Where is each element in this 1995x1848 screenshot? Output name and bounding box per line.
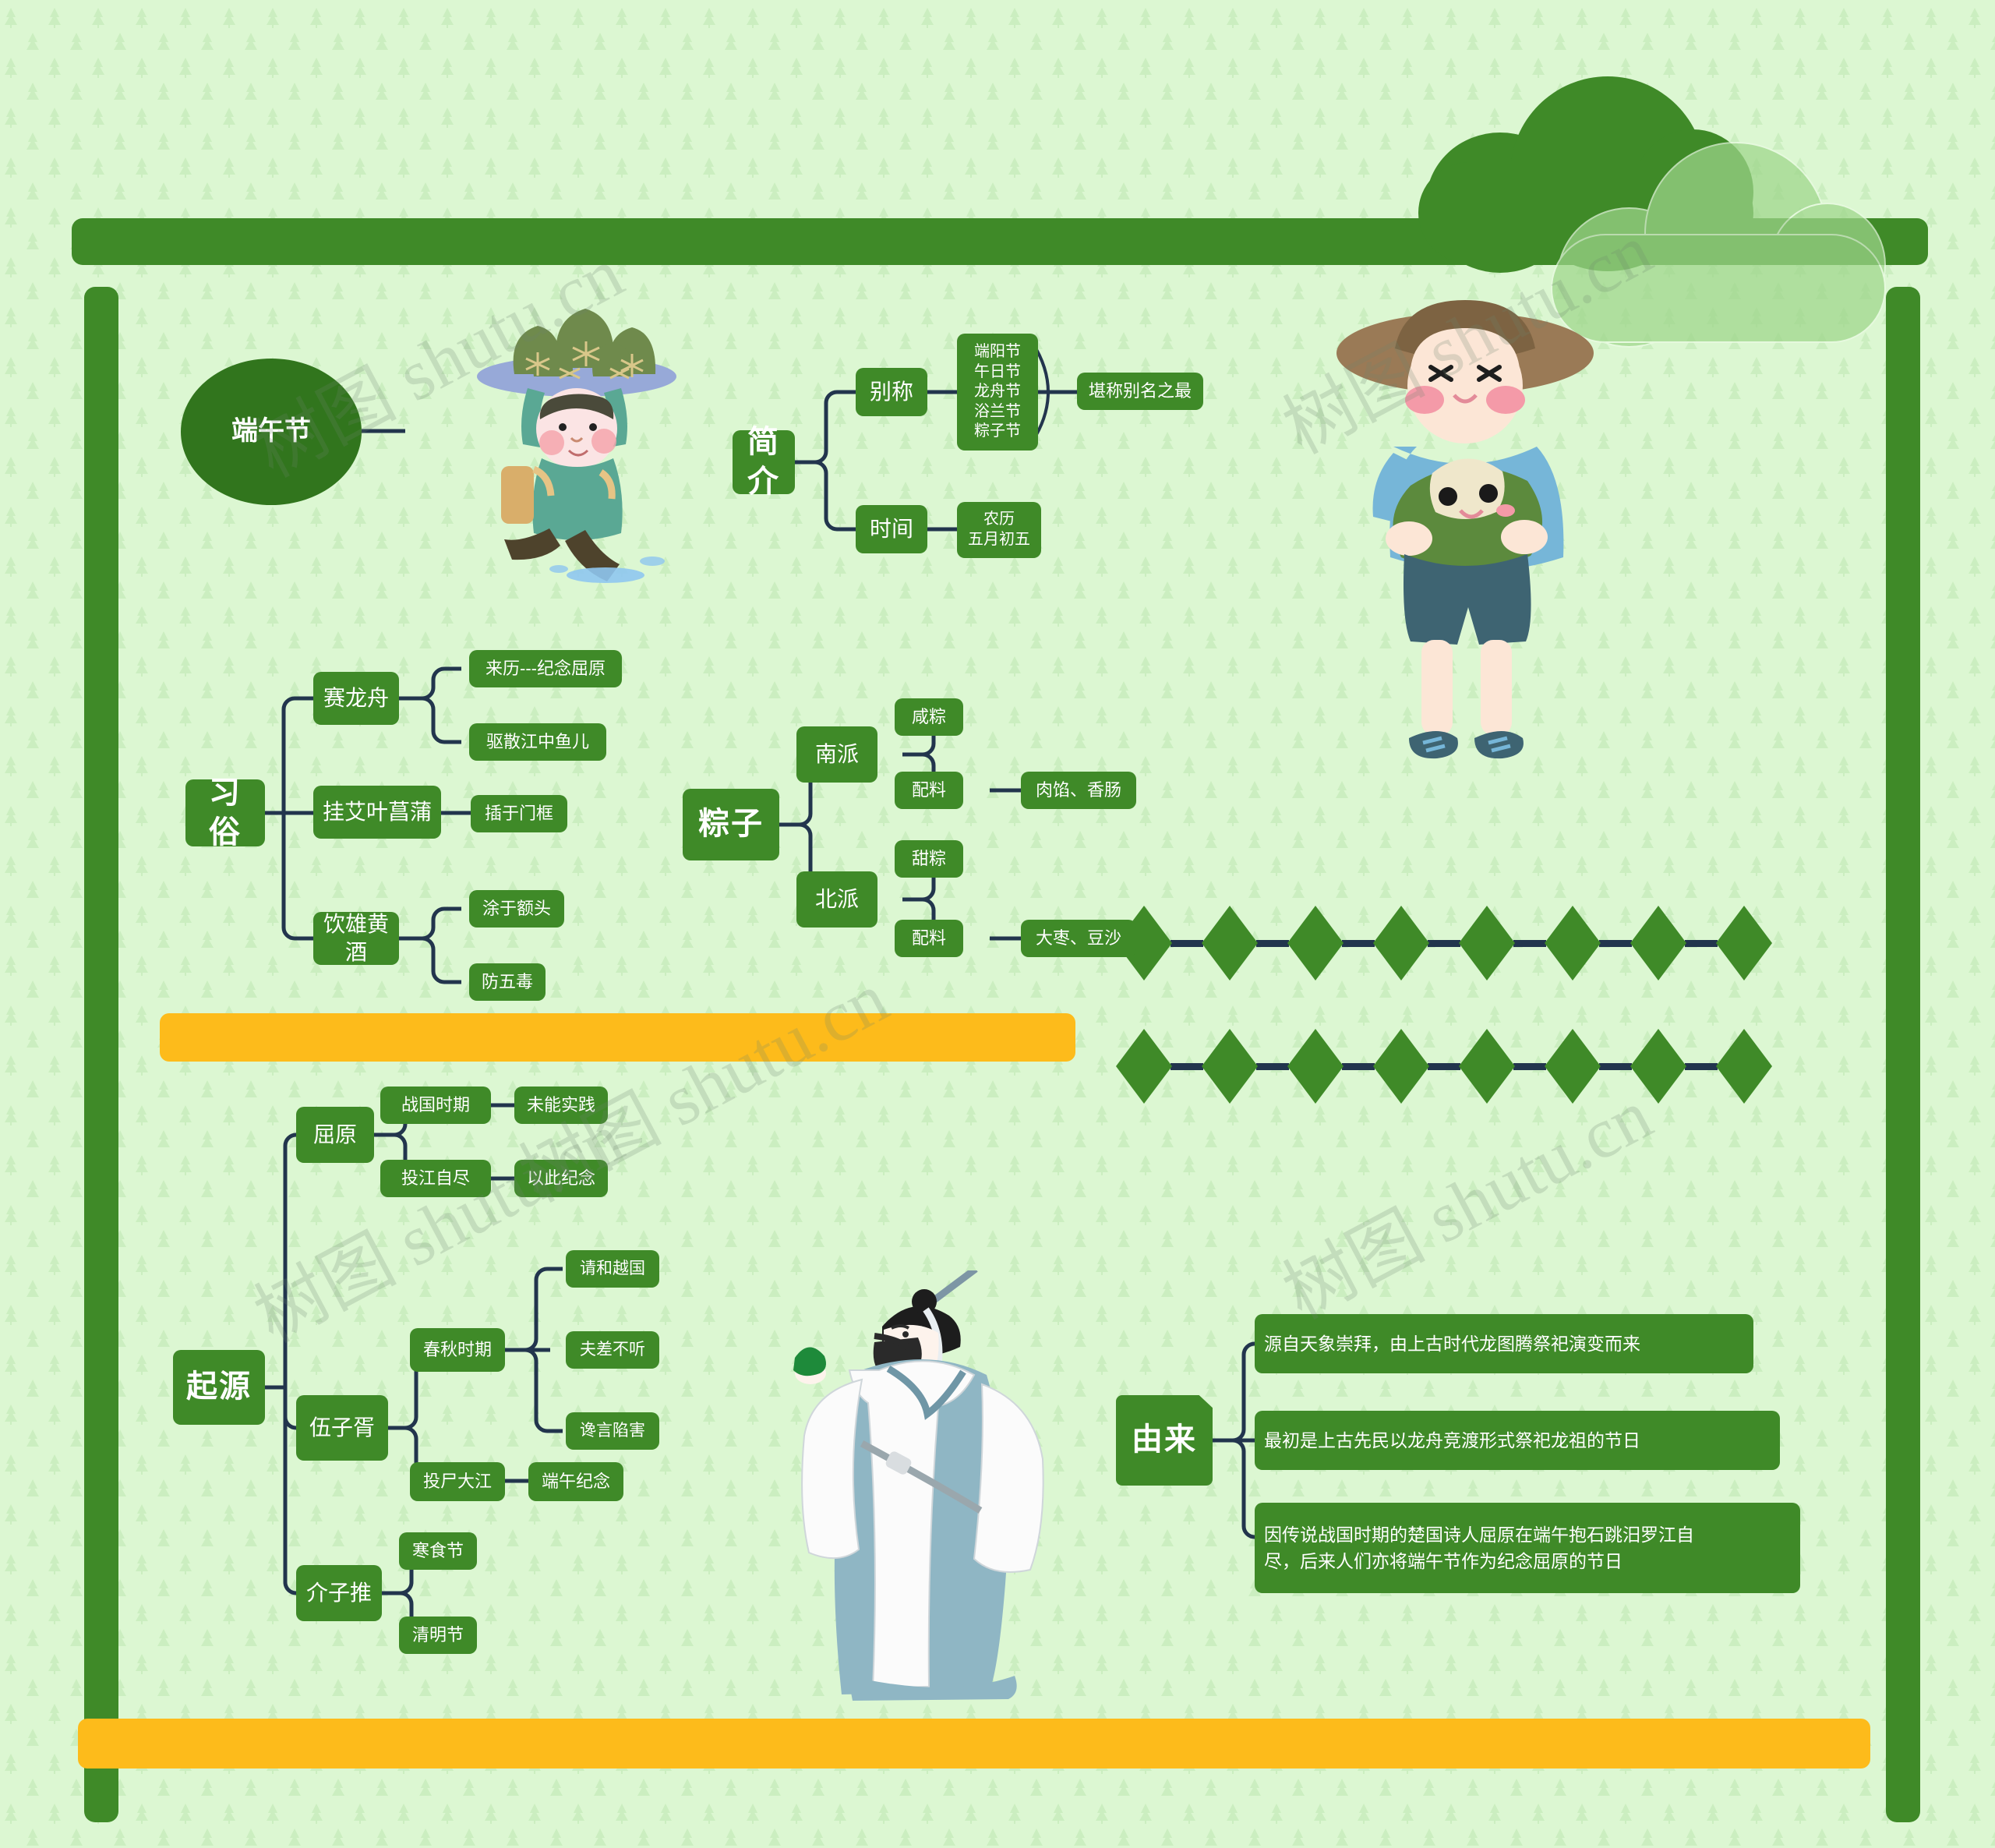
diamond-icon [1630,906,1686,981]
node-intro-time[interactable]: 时间 [856,505,927,553]
node-customs-mugwort-door[interactable]: 插于门框 [471,795,567,832]
branch-node-intro[interactable]: 简介 [733,430,795,494]
node-origin-jiezitui[interactable]: 介子推 [296,1565,382,1621]
diamond-link [1256,940,1289,947]
branch-node-origin[interactable]: 起源 [173,1350,265,1425]
node-customs-dragonboat-fish[interactable]: 驱散江中鱼儿 [469,723,606,761]
node-customs-mugwort[interactable]: 挂艾叶菖蒲 [313,786,441,839]
branch-node-zongzi[interactable]: 粽子 [683,789,779,860]
diamond-icon [1545,906,1601,981]
diamond-icon [1373,1029,1429,1104]
diamond-link [1342,940,1375,947]
mindmap-canvas: 树图 shutu.cn 树图 shutu.cn 树图 shutu.cn 树图 s… [0,0,1995,1848]
node-customs-realgar-forehead[interactable]: 涂于额头 [469,890,564,928]
diamond-icon [1287,906,1344,981]
diamond-chain-row-2 [1116,1029,1772,1104]
branch-node-customs[interactable]: 习俗 [185,779,265,846]
diamond-icon [1545,1029,1601,1104]
diamond-icon [1287,1029,1344,1104]
node-origin-wuzixu-fuchai[interactable]: 夫差不听 [566,1331,659,1369]
diamond-link [1513,940,1546,947]
diamond-link [1513,1063,1546,1070]
node-zongzi-south-salty[interactable]: 咸粽 [895,698,963,736]
node-origin-wuzixu[interactable]: 伍子胥 [296,1395,388,1461]
diamond-link [1685,1063,1718,1070]
diamond-link [1599,940,1632,947]
diamond-link [1342,1063,1375,1070]
node-origin-jiezitui-qingming[interactable]: 清明节 [399,1617,477,1654]
node-zongzi-south-ingredients-list[interactable]: 肉馅、香肠 [1021,772,1136,809]
node-zongzi-north-ingredients-list[interactable]: 大枣、豆沙 [1021,920,1136,957]
diamond-icon [1630,1029,1686,1104]
diamond-link [1171,1063,1203,1070]
diamond-link [1685,940,1718,947]
node-origin-quyuan-drowned[interactable]: 投江自尽 [380,1160,491,1197]
diamond-icon [1202,1029,1258,1104]
diamond-icon [1716,906,1772,981]
node-origin-wuzixu-peace[interactable]: 请和越国 [566,1250,659,1288]
node-intro-time-date[interactable]: 农历 五月初五 [957,502,1041,558]
node-intro-alias-most[interactable]: 堪称别名之最 [1077,373,1203,410]
node-zongzi-north-ingredients[interactable]: 配料 [895,920,963,957]
root-node-duanwu[interactable]: 端午节 [181,359,362,505]
node-origin-wuzixu-spring[interactable]: 春秋时期 [410,1328,505,1372]
diamond-icon [1459,1029,1515,1104]
node-zongzi-south[interactable]: 南派 [796,726,877,783]
node-source-dragonboat[interactable]: 最初是上古先民以龙舟竞渡形式祭祀龙祖的节日 [1255,1411,1780,1470]
node-origin-quyuan-drowned-commemorate[interactable]: 以此纪念 [514,1160,608,1197]
node-origin-jiezitui-hanshi[interactable]: 寒食节 [399,1532,477,1570]
node-origin-wuzixu-body-commemorate[interactable]: 端午纪念 [528,1462,623,1501]
diamond-icon [1716,1029,1772,1104]
node-customs-realgar[interactable]: 饮雄黄酒 [313,912,399,965]
quyuan-scholar-illustration [787,1270,1099,1707]
node-origin-quyuan-warring[interactable]: 战国时期 [380,1087,491,1124]
node-intro-alias-list[interactable]: 端阳节 午日节 龙舟节 浴兰节 粽子节 [957,334,1038,451]
diamond-icon [1459,906,1515,981]
diamond-icon [1116,1029,1172,1104]
diamond-link [1256,1063,1289,1070]
node-customs-realgar-poison[interactable]: 防五毒 [469,963,546,1001]
node-origin-quyuan-warring-unfulfilled[interactable]: 未能实践 [514,1087,608,1124]
node-origin-wuzixu-body[interactable]: 投尸大江 [410,1462,505,1501]
node-customs-dragonboat-origin[interactable]: 来历---纪念屈原 [469,650,622,687]
node-intro-alias[interactable]: 别称 [856,368,927,416]
node-zongzi-south-ingredients[interactable]: 配料 [895,772,963,809]
diamond-link [1428,940,1460,947]
node-origin-wuzixu-slander[interactable]: 谗言陷害 [566,1412,659,1450]
node-source-worship[interactable]: 源自天象崇拜，由上古时代龙图腾祭祀演变而来 [1255,1314,1753,1373]
diamond-icon [1373,906,1429,981]
diamond-link [1428,1063,1460,1070]
diamond-link [1599,1063,1632,1070]
node-source-quyuan[interactable]: 因传说战国时期的楚国诗人屈原在端午抱石跳汨罗江自 尽，后来人们亦将端午节作为纪念… [1255,1503,1800,1593]
boy-carrying-zongzi-tray-illustration [440,265,713,585]
node-zongzi-north-sweet[interactable]: 甜粽 [895,840,963,878]
boy-hugging-zongzi-illustration [1294,277,1637,776]
diamond-icon [1202,906,1258,981]
node-zongzi-north[interactable]: 北派 [796,871,877,928]
branch-node-source[interactable]: 由来 [1116,1395,1213,1486]
diamond-chain-row-1 [1116,906,1772,981]
node-origin-quyuan[interactable]: 屈原 [296,1107,374,1163]
node-customs-dragonboat[interactable]: 赛龙舟 [313,672,399,725]
diamond-link [1171,940,1203,947]
